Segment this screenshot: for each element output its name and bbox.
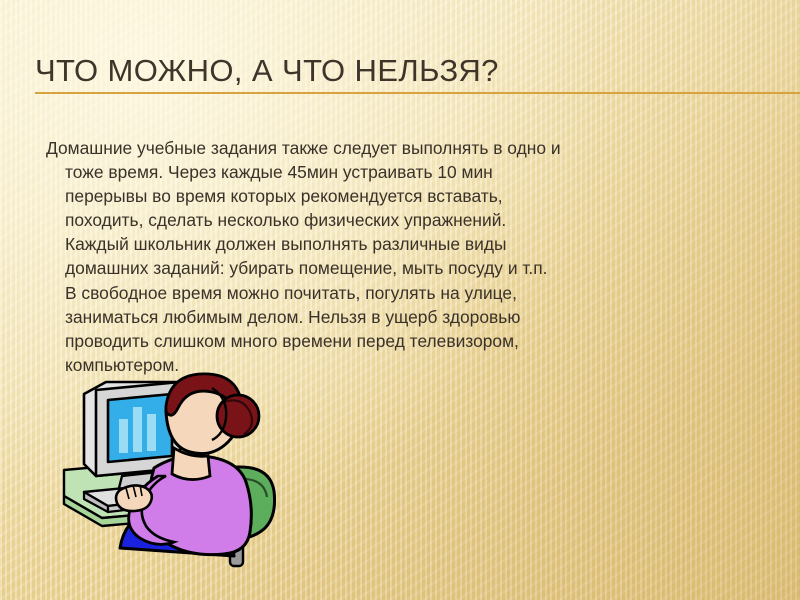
body-text-block: Домашние учебные задания также следует в…: [46, 136, 788, 377]
body-line: Каждый школьник должен выполнять различн…: [46, 232, 788, 256]
body-line: домашних заданий: убирать помещение, мыт…: [46, 256, 788, 280]
body-line: походить, сделать несколько физических у…: [46, 208, 788, 232]
body-line: проводить слишком много времени перед те…: [46, 329, 788, 353]
body-line: В свободное время можно почитать, погуля…: [46, 281, 788, 305]
title-block: ЧТО МОЖНО, А ЧТО НЕЛЬЗЯ?: [0, 54, 800, 88]
body-line: тоже время. Через каждые 45мин устраиват…: [46, 160, 788, 184]
slide-title: ЧТО МОЖНО, А ЧТО НЕЛЬЗЯ?: [0, 54, 800, 88]
body-line: заниматься любимым делом. Нельзя в ущерб…: [46, 305, 788, 329]
body-line: перерывы во время которых рекомендуется …: [46, 184, 788, 208]
girl-at-computer-illustration: [62, 372, 294, 572]
body-paragraph: Домашние учебные задания также следует в…: [46, 136, 788, 377]
slide-canvas: ЧТО МОЖНО, А ЧТО НЕЛЬЗЯ? Домашние учебны…: [0, 0, 800, 600]
monitor-screen: [108, 394, 172, 462]
title-underline-rule: [35, 92, 800, 94]
body-line: Домашние учебные задания также следует в…: [46, 136, 788, 160]
